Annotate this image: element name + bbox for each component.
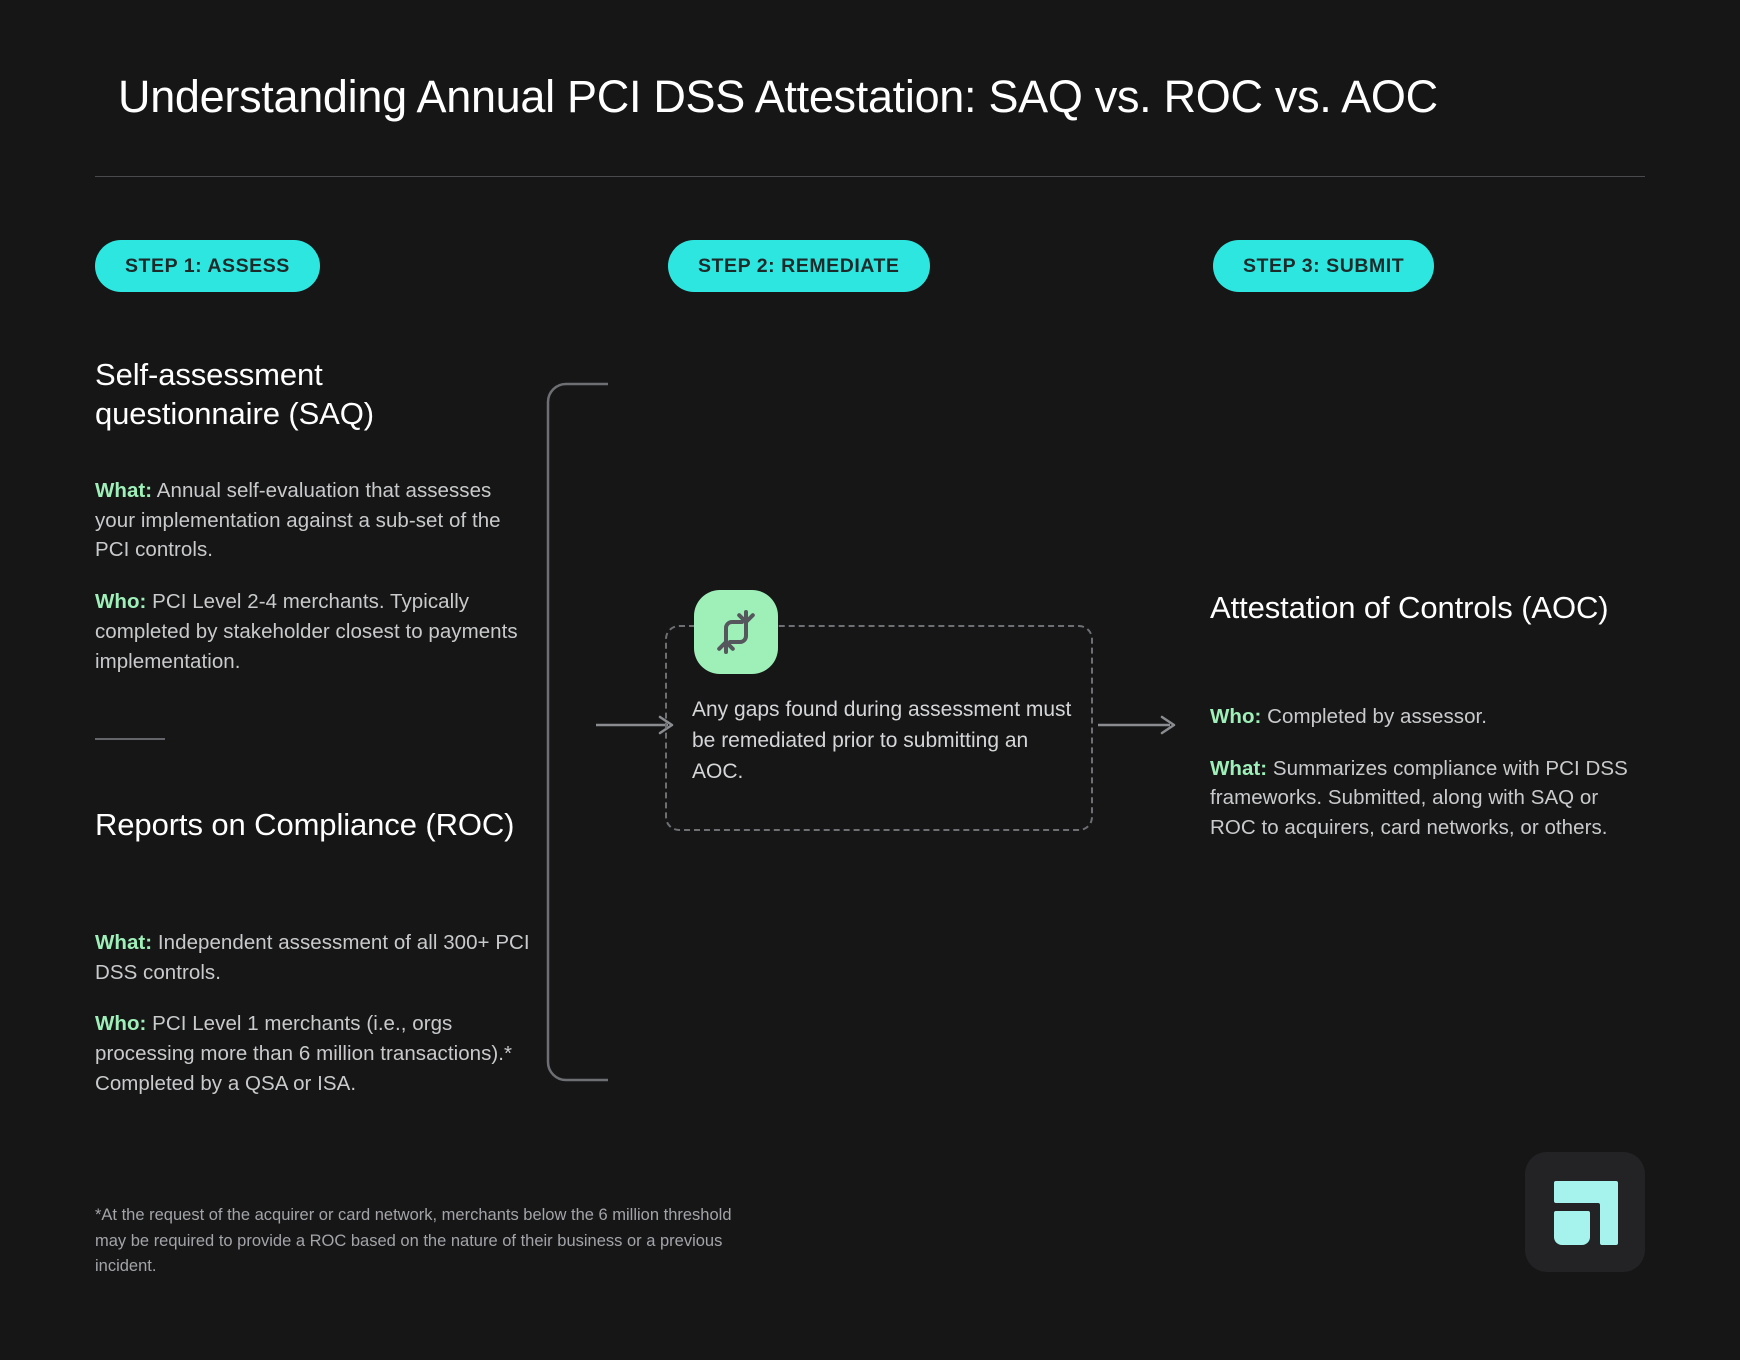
section-divider [95,738,165,740]
repeat-icon [694,590,778,674]
saq-heading: Self-assessment questionnaire (SAQ) [95,355,515,433]
roc-body: What: Independent assessment of all 300+… [95,928,535,1099]
roc-who-paragraph: Who: PCI Level 1 merchants (i.e., orgs p… [95,1009,535,1098]
aoc-what-paragraph: What: Summarizes compliance with PCI DSS… [1210,754,1640,843]
saq-who-paragraph: Who: PCI Level 2-4 merchants. Typically … [95,587,535,676]
aoc-body: Who: Completed by assessor. What: Summar… [1210,702,1640,843]
repeat-icon-glyph [712,608,760,656]
roc-what-paragraph: What: Independent assessment of all 300+… [95,928,535,987]
title-divider [95,176,1645,177]
step-badge-submit: STEP 3: SUBMIT [1213,240,1434,292]
page-title: Understanding Annual PCI DSS Attestation… [118,70,1638,123]
aoc-who-paragraph: Who: Completed by assessor. [1210,702,1640,732]
step-badge-assess: STEP 1: ASSESS [95,240,320,292]
saq-what-text: Annual self-evaluation that assesses you… [95,479,501,561]
aoc-heading: Attestation of Controls (AOC) [1210,588,1610,627]
roc-what-label: What: [95,931,152,954]
remediate-text: Any gaps found during assessment must be… [692,694,1082,787]
roc-who-label: Who: [95,1012,146,1035]
aoc-who-label: Who: [1210,705,1261,728]
brand-logo-glyph [1548,1175,1622,1249]
saq-who-label: Who: [95,590,146,613]
footnote: *At the request of the acquirer or card … [95,1203,735,1280]
roc-heading: Reports on Compliance (ROC) [95,805,515,844]
aoc-what-text: Summarizes compliance with PCI DSS frame… [1210,757,1628,839]
brand-logo [1525,1152,1645,1272]
saq-body: What: Annual self-evaluation that assess… [95,476,535,676]
roc-who-text: PCI Level 1 merchants (i.e., orgs proces… [95,1012,512,1094]
saq-what-label: What: [95,479,152,502]
step-badge-remediate: STEP 2: REMEDIATE [668,240,930,292]
infographic-canvas: Understanding Annual PCI DSS Attestation… [0,0,1740,1360]
saq-what-paragraph: What: Annual self-evaluation that assess… [95,476,535,565]
arrow-remediate-to-submit [1098,713,1183,737]
aoc-what-label: What: [1210,757,1267,780]
roc-what-text: Independent assessment of all 300+ PCI D… [95,931,530,984]
saq-who-text: PCI Level 2-4 merchants. Typically compl… [95,590,518,672]
aoc-who-text: Completed by assessor. [1261,705,1487,728]
